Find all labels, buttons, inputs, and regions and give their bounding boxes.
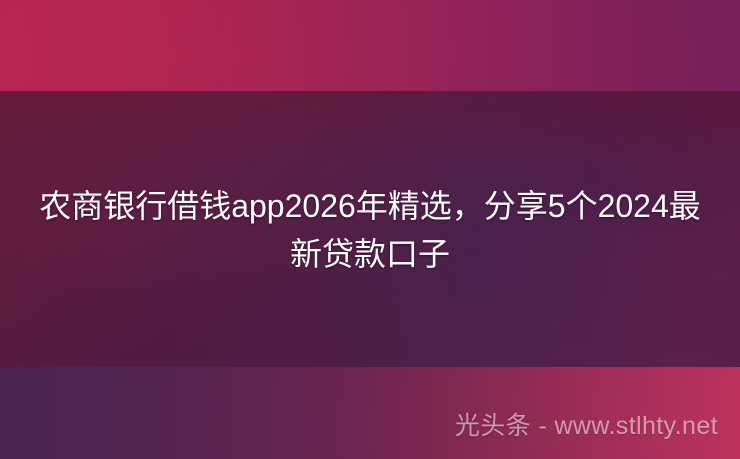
thumbnail-card: 农商银行借钱app2026年精选，分享5个2024最新贷款口子 光头条 - ww… bbox=[0, 0, 740, 459]
site-watermark: 光头条 - www.stlhty.net bbox=[455, 409, 718, 443]
article-title: 农商银行借钱app2026年精选，分享5个2024最新贷款口子 bbox=[28, 182, 712, 278]
title-block: 农商银行借钱app2026年精选，分享5个2024最新贷款口子 bbox=[28, 182, 712, 278]
background-band-top bbox=[0, 0, 740, 91]
